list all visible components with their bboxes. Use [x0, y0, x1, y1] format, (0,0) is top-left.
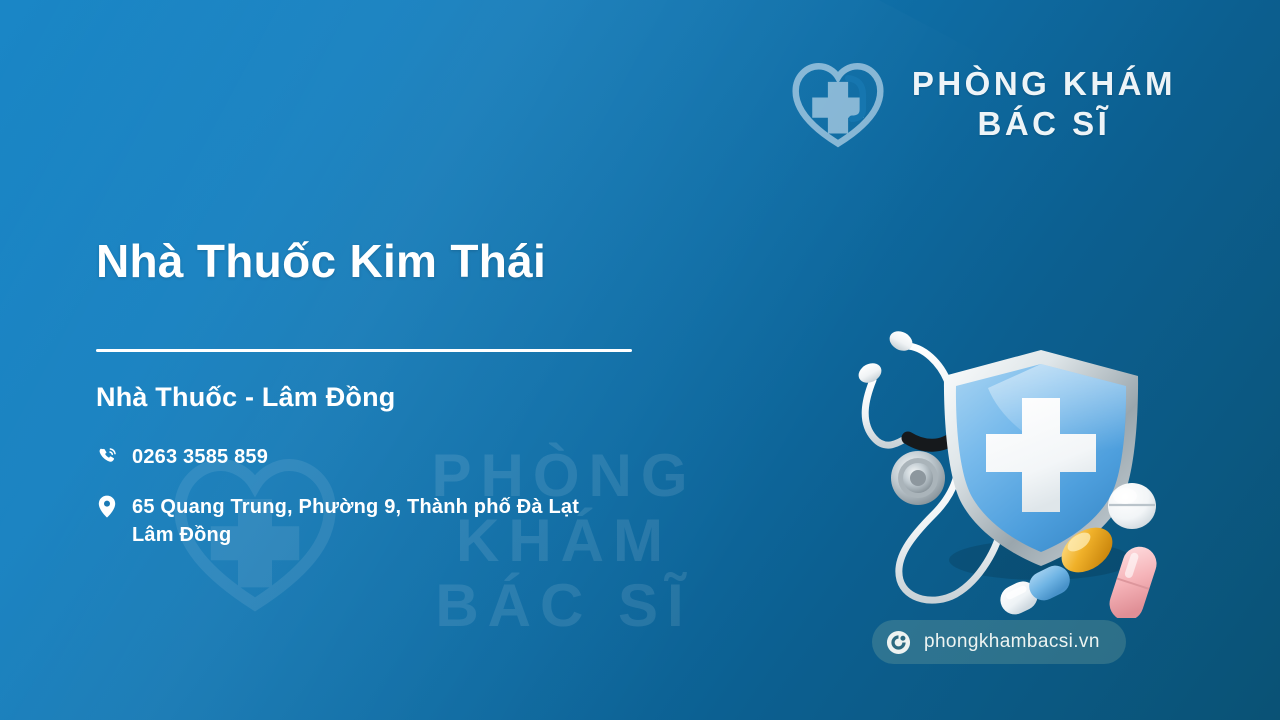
watermark-line-2: BÁC SĨ	[318, 574, 810, 639]
phone-number: 0263 3585 859	[132, 443, 268, 471]
pill-white-round-tablet	[1108, 483, 1156, 529]
earpiece-right	[886, 327, 916, 354]
address-row[interactable]: 65 Quang Trung, Phường 9, Thành phố Đà L…	[96, 493, 736, 550]
address-line-1: 65 Quang Trung, Phường 9, Thành phố Đà L…	[132, 496, 579, 518]
address-text: 65 Quang Trung, Phường 9, Thành phố Đà L…	[132, 493, 579, 550]
phone-icon	[96, 444, 118, 470]
page-title: Nhà Thuốc Kim Thái	[96, 236, 736, 287]
heart-medical-cross-icon	[786, 58, 890, 150]
brand-text: PHÒNG KHÁM BÁC SĨ	[912, 64, 1176, 145]
medical-illustration	[838, 318, 1178, 618]
stethoscope-chestpiece	[891, 451, 945, 505]
brand-line-2: BÁC SĨ	[912, 104, 1176, 144]
brand-line-1: PHÒNG KHÁM	[912, 64, 1176, 104]
title-divider	[96, 349, 632, 352]
phone-row[interactable]: 0263 3585 859	[96, 443, 736, 471]
address-line-2: Lâm Đồng	[132, 521, 579, 549]
website-badge[interactable]: phongkhambacsi.vn	[872, 620, 1126, 664]
business-card-banner: PHÒNG KHÁM BÁC SĨ PHÒNG KHÁM BÁC SĨ Nhà …	[0, 0, 1280, 720]
website-url: phongkhambacsi.vn	[924, 631, 1100, 653]
subtitle: Nhà Thuốc - Lâm Đồng	[96, 382, 736, 413]
globe-icon	[886, 630, 911, 655]
brand-logo: PHÒNG KHÁM BÁC SĨ	[786, 58, 1176, 150]
pharmacy-info: Nhà Thuốc Kim Thái Nhà Thuốc - Lâm Đồng …	[96, 236, 736, 572]
map-pin-icon	[96, 494, 118, 520]
